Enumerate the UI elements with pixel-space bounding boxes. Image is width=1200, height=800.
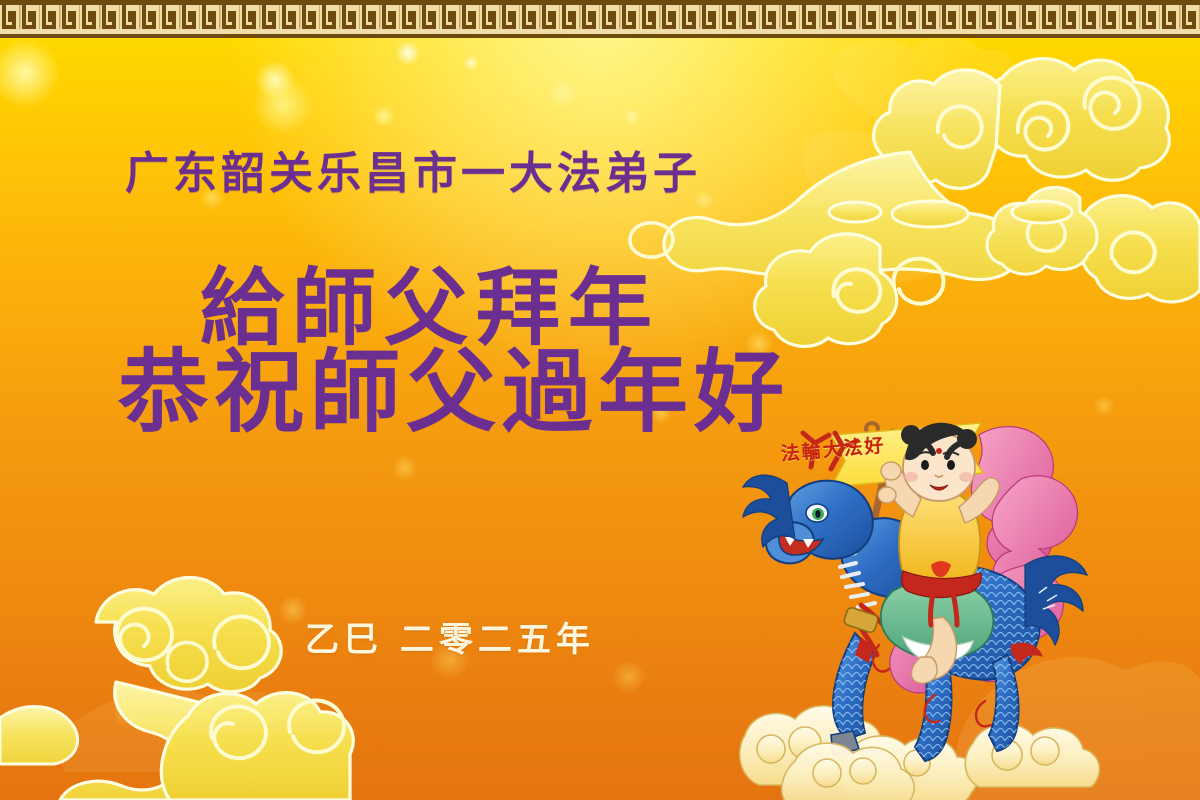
sender-line: 广东韶关乐昌市一大法弟子 (125, 137, 701, 201)
greeting-line-1: 給師父拜年 (200, 266, 660, 350)
bokeh-light (392, 455, 418, 481)
bokeh-light (112, 700, 138, 726)
bokeh-light (373, 105, 395, 127)
bokeh-light (395, 40, 421, 66)
bokeh-light (253, 75, 313, 135)
child-riding-dragon-illustration: 法輪大法好 (735, 405, 1100, 800)
banner-text: 法輪大法好 (780, 430, 887, 466)
bokeh-light (623, 108, 641, 126)
bokeh-light (612, 660, 646, 694)
meander-border (0, 0, 1200, 38)
bokeh-light (255, 60, 295, 100)
date-line: 乙巳 二零二五年 (305, 612, 595, 661)
bokeh-light (0, 38, 60, 108)
bokeh-light (278, 595, 308, 625)
bokeh-light (463, 55, 479, 71)
bokeh-light (548, 78, 578, 108)
greeting-card: 广东韶关乐昌市一大法弟子 給師父拜年 恭祝師父過年好 乙巳 二零二五年 (0, 0, 1200, 800)
greeting-line-2: 恭祝師父過年好 (118, 348, 790, 438)
